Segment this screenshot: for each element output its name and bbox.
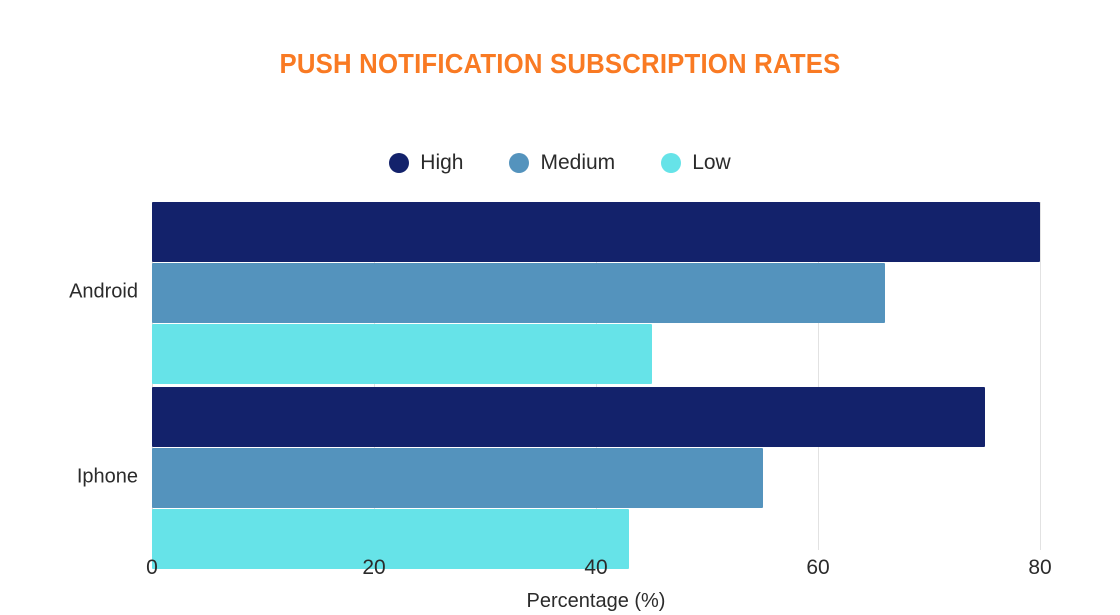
x-axis-title: Percentage (%) xyxy=(152,590,1040,613)
legend-item-high[interactable]: High xyxy=(389,152,463,173)
chart-title: PUSH NOTIFICATION SUBSCRIPTION RATES xyxy=(45,48,1075,80)
legend-swatch-low-icon xyxy=(661,153,681,173)
bar-iphone-low[interactable] xyxy=(152,509,629,569)
bar-android-medium[interactable] xyxy=(152,263,885,323)
bar-android-low[interactable] xyxy=(152,324,652,384)
x-tick-label-80: 80 xyxy=(1028,556,1051,580)
legend-item-low[interactable]: Low xyxy=(661,152,731,173)
legend-label-low: Low xyxy=(692,152,731,173)
x-tick-label-20: 20 xyxy=(362,556,385,580)
x-tick-label-0: 0 xyxy=(146,556,158,580)
y-axis-labels: AndroidIphone xyxy=(0,202,138,550)
legend-label-medium: Medium xyxy=(540,152,615,173)
chart-legend: High Medium Low xyxy=(0,152,1120,173)
plot-area xyxy=(152,202,1040,550)
gridline-80 xyxy=(1040,202,1041,550)
legend-item-medium[interactable]: Medium xyxy=(509,152,615,173)
bar-android-high[interactable] xyxy=(152,202,1040,262)
legend-swatch-medium-icon xyxy=(509,153,529,173)
legend-swatch-high-icon xyxy=(389,153,409,173)
chart-container: PUSH NOTIFICATION SUBSCRIPTION RATES Hig… xyxy=(0,0,1120,615)
y-tick-label-android: Android xyxy=(8,281,138,304)
y-tick-label-iphone: Iphone xyxy=(8,466,138,489)
bars-layer xyxy=(152,202,1040,550)
x-tick-label-60: 60 xyxy=(806,556,829,580)
bar-iphone-medium[interactable] xyxy=(152,448,763,508)
x-tick-label-40: 40 xyxy=(584,556,607,580)
legend-label-high: High xyxy=(420,152,463,173)
bar-iphone-high[interactable] xyxy=(152,387,985,447)
